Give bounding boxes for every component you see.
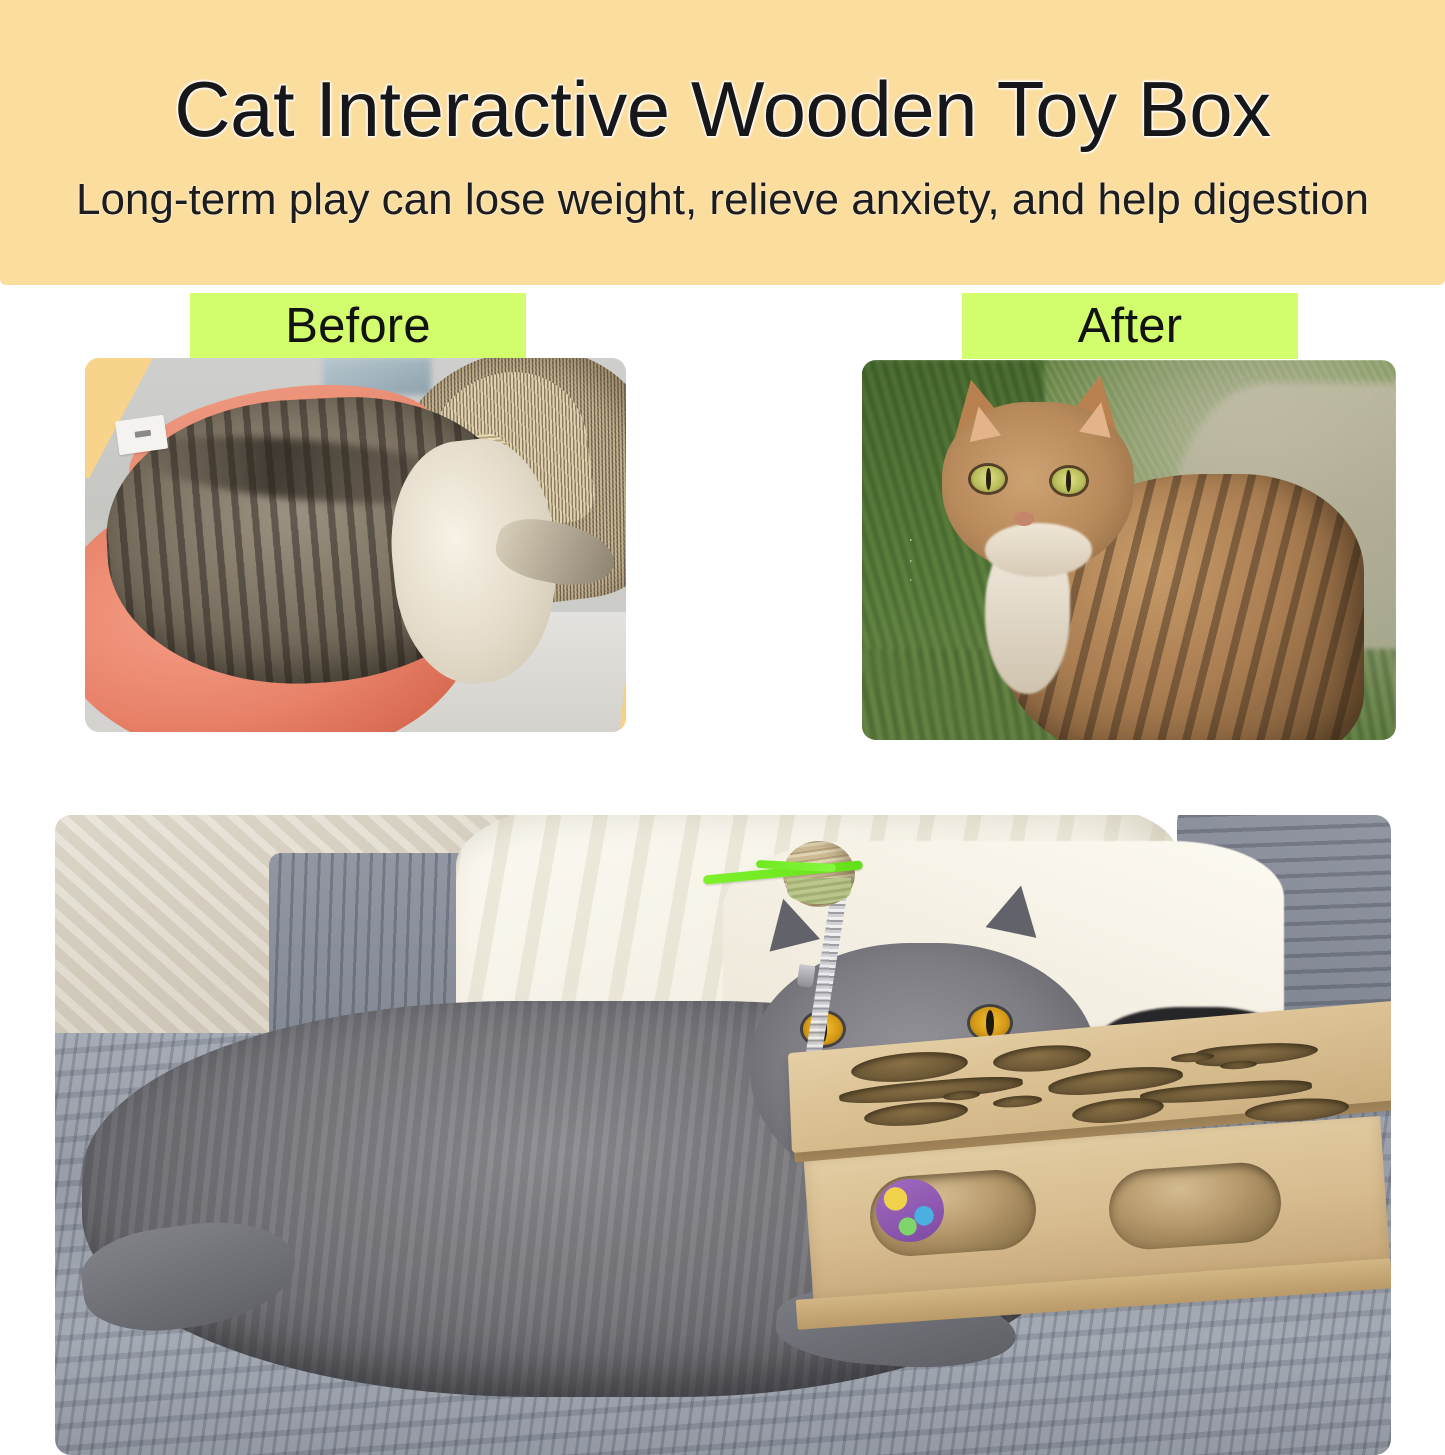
slim-cat-inner-ear-left: [963, 403, 1001, 442]
page-title: Cat Interactive Wooden Toy Box: [0, 64, 1445, 155]
photo-hero-product: [55, 815, 1391, 1455]
slim-cat-whiskers: [910, 527, 1134, 588]
label-before: Before: [190, 293, 526, 359]
header-banner: Cat Interactive Wooden Toy Box Long-term…: [0, 0, 1445, 285]
wooden-toy-box[interactable]: [790, 1026, 1391, 1359]
toy-box-side-hole-right[interactable]: [1107, 1160, 1284, 1252]
photo-after: [862, 360, 1396, 740]
slim-cat-inner-ear-right: [1079, 399, 1117, 437]
photo-before: [85, 358, 626, 732]
slim-cat-eye-right: [1052, 468, 1086, 494]
page-subtitle: Long-term play can lose weight, relieve …: [0, 175, 1445, 225]
floor-tag: [115, 415, 168, 455]
toy-spring-base: [796, 964, 815, 988]
label-after: After: [962, 293, 1298, 359]
